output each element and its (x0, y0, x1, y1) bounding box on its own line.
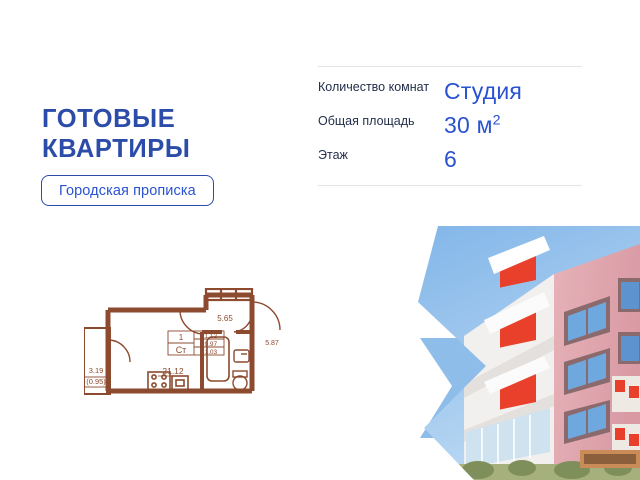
spec-panel: Количество комнат Студия Общая площадь 3… (318, 66, 582, 186)
spec-label-floor: Этаж (318, 148, 444, 163)
plan-summary-type: Ст (176, 345, 187, 355)
spec-row-area: Общая площадь 30 м2 (318, 114, 582, 137)
spec-value-area: 30 м2 (444, 114, 501, 137)
city-registration-button-label: Городская прописка (59, 183, 196, 199)
headline-line-1: ГОТОВЫЕ (42, 104, 292, 134)
spec-row-floor: Этаж 6 (318, 148, 582, 171)
headline-line-2: КВАРТИРЫ (42, 134, 292, 164)
plan-summary-total: 31.03 (201, 349, 218, 356)
plan-label-room: 21.12 (162, 366, 184, 376)
spec-value-floor: 6 (444, 148, 457, 171)
spec-row-rooms: Количество комнат Студия (318, 80, 582, 103)
spec-value-rooms: Студия (444, 80, 522, 103)
spec-divider-bottom (318, 185, 582, 186)
listing-card: ГОТОВЫЕ КВАРТИРЫ Городская прописка Коли… (0, 0, 640, 480)
plan-label-balcony-coef: (0.95) (86, 377, 106, 386)
plan-label-balcony-area: 3.19 (89, 366, 104, 375)
plan-label-hall: 5.65 (217, 314, 233, 323)
spec-label-area: Общая площадь (318, 114, 444, 129)
spec-row-list: Количество комнат Студия Общая площадь 3… (318, 67, 582, 185)
spec-value-area-text: 30 м (444, 112, 493, 138)
spec-label-rooms: Количество комнат (318, 80, 444, 95)
spec-value-area-superscript: 2 (493, 112, 501, 128)
floor-plan: 5.65 5.87 21.12 3.19 (0.95) 1 Ст 21.12 (84, 288, 316, 414)
plan-summary-living: 21.12 (201, 333, 218, 340)
plan-label-bath: 5.87 (265, 340, 279, 347)
plan-summary-without-balcony: 29.97 (201, 341, 218, 348)
city-registration-button[interactable]: Городская прописка (41, 175, 214, 206)
spec-value-floor-text: 6 (444, 146, 457, 172)
plan-summary-rooms: 1 (179, 333, 184, 342)
building-photo (404, 216, 640, 480)
page-title: ГОТОВЫЕ КВАРТИРЫ (42, 104, 292, 164)
spec-value-rooms-text: Студия (444, 78, 522, 104)
